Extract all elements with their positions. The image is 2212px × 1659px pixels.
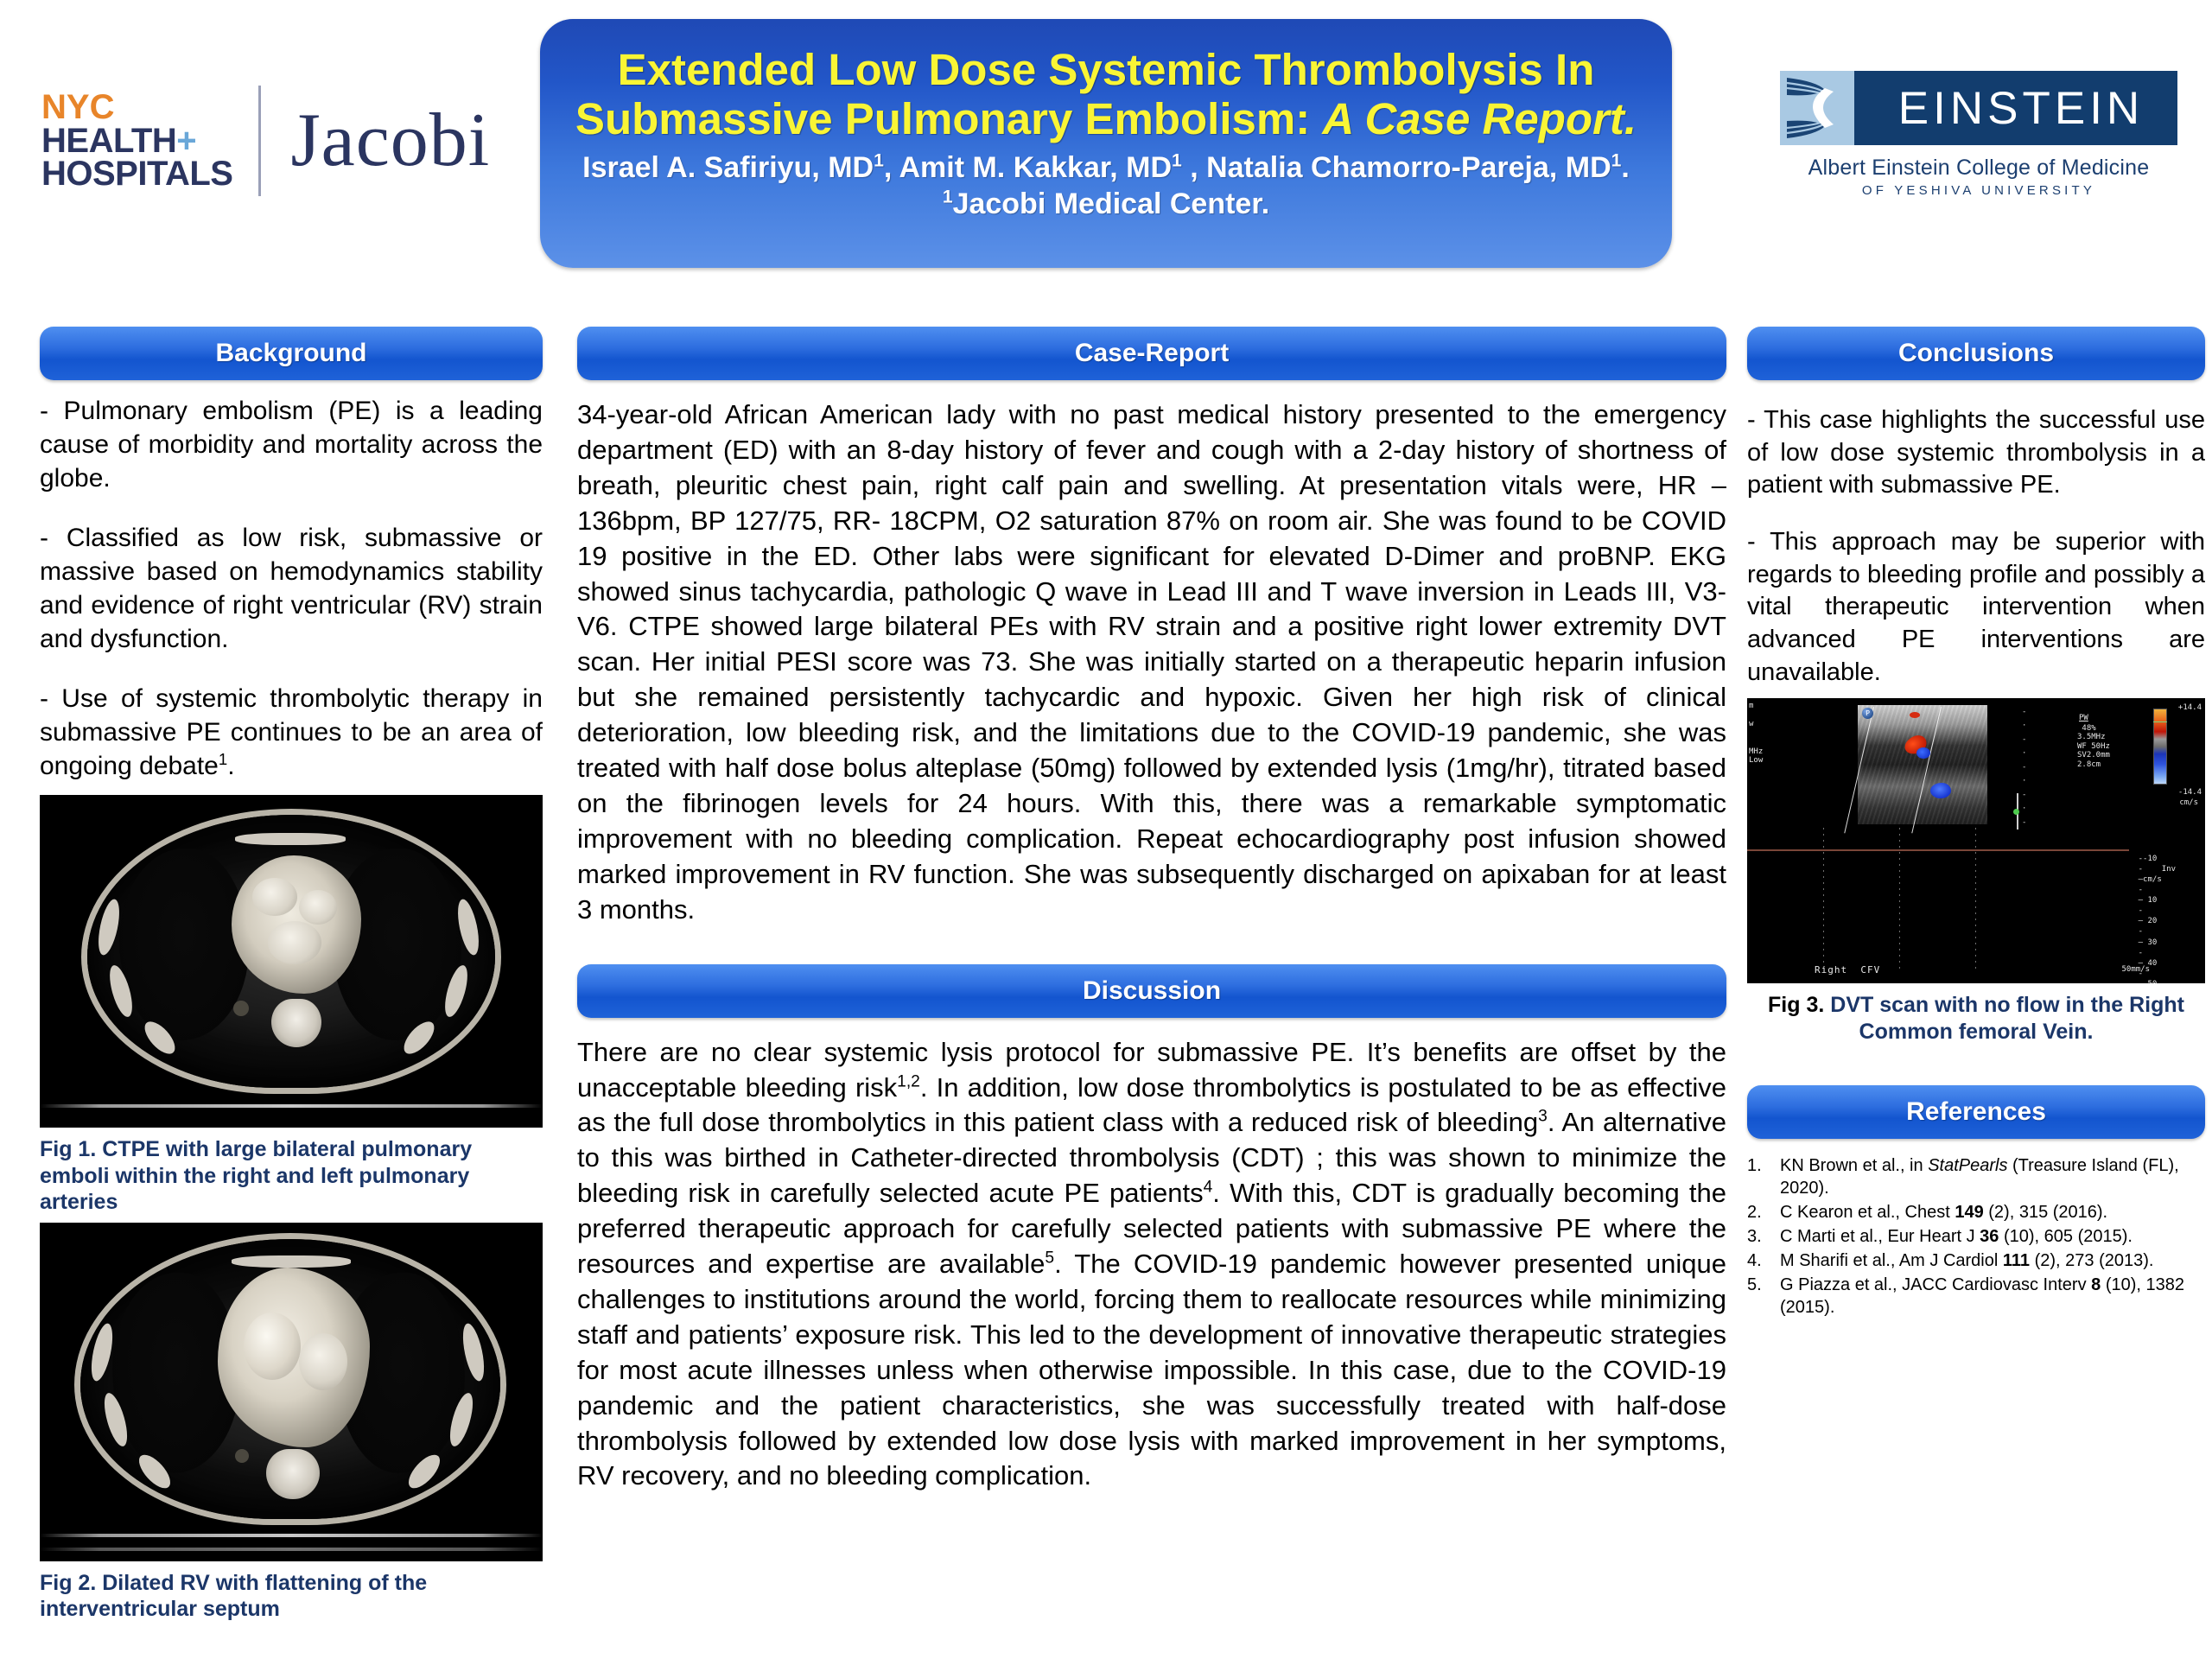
author-3-affil: 1 xyxy=(1611,151,1622,171)
doppler-colorbar-baseline xyxy=(2153,721,2167,722)
ultrasound-scale-min: -14.4 xyxy=(2178,788,2202,798)
figure-1-caption: Fig 1. CTPE with large bilateral pulmona… xyxy=(40,1136,543,1216)
affiliation-text: Jacobi Medical Center. xyxy=(953,188,1270,220)
poster-root: NYC HEALTH+ HOSPITALS Jacobi Extended Lo… xyxy=(0,0,2212,1659)
doppler-blue-small xyxy=(1916,747,1930,759)
discussion-body: There are no clear systemic lysis protoc… xyxy=(577,1035,1726,1495)
section-header-references: References xyxy=(1747,1085,2205,1139)
reference-text: M Sharifi et al., Am J Cardiol 111 (2), … xyxy=(1780,1249,2205,1272)
probe-orientation-icon: P xyxy=(1862,708,1873,719)
background-paragraph-3: - Use of systemic thrombolytic therapy i… xyxy=(40,682,543,783)
nyc-text: NYC xyxy=(41,91,232,124)
ultrasound-pw-settings: 48% 3.5MHz WF 50Hz SV2.0mm 2.8cm xyxy=(2077,724,2110,770)
background-heading-label: Background xyxy=(215,339,366,368)
author-1: Israel A. Safiriyu, MD xyxy=(582,151,874,184)
doppler-red-small xyxy=(1910,712,1920,718)
nyc-health-hospitals-jacobi-logo: NYC HEALTH+ HOSPITALS Jacobi xyxy=(41,76,543,206)
affiliation-marker: 1 xyxy=(943,187,953,207)
ultrasound-spectral-scale: --10 - Inv —cm/s - — 10 - — 20 - — 30 - … xyxy=(2139,854,2176,983)
middle-column: Case-Report 34-year-old African American… xyxy=(577,327,1726,1494)
discussion-ref-1: 1,2 xyxy=(897,1072,920,1090)
discussion-paragraph: There are no clear systemic lysis protoc… xyxy=(577,1035,1726,1495)
conclusions-body: - This case highlights the successful us… xyxy=(1747,404,2205,690)
reference-journal-italic: StatPearls xyxy=(1928,1156,2007,1175)
reference-text: C Kearon et al., Chest 149 (2), 315 (201… xyxy=(1780,1201,2205,1224)
ultrasound-caliper-marker xyxy=(2013,809,2019,815)
figure-1-ct-image xyxy=(40,795,543,1128)
jacobi-wordmark: Jacobi xyxy=(290,103,490,179)
hospitals-text: HOSPITALS xyxy=(41,157,232,190)
figure-3-label: Fig 3. xyxy=(1768,993,1824,1017)
figure-1-caption-text: CTPE with large bilateral pulmonary embo… xyxy=(40,1137,472,1214)
helix-svg xyxy=(1780,71,1854,145)
case-report-body: 34-year-old African American lady with n… xyxy=(577,397,1726,928)
einstein-college-logo: EINSTEIN Albert Einstein College of Medi… xyxy=(1771,71,2186,198)
title-line-1: Extended Low Dose Systemic Thrombolysis … xyxy=(618,45,1595,94)
case-report-paragraph: 34-year-old African American lady with n… xyxy=(577,397,1726,928)
figure-3-caption: Fig 3. DVT scan with no flow in the Righ… xyxy=(1747,992,2205,1046)
ultrasound-doppler-sector xyxy=(1858,705,1987,824)
page-title: Extended Low Dose Systemic Thrombolysis … xyxy=(575,45,1637,143)
section-header-background: Background xyxy=(40,327,543,380)
figure-2-ct-image xyxy=(40,1223,543,1561)
ultrasound-depth-ticks: -·-·-·-·- xyxy=(2022,705,2026,829)
figure-3-caption-text: DVT scan with no flow in the Right Commo… xyxy=(1824,993,2184,1044)
reference-item: 4. M Sharifi et al., Am J Cardiol 111 (2… xyxy=(1747,1249,2205,1272)
discussion-ref-4: 5 xyxy=(1045,1249,1054,1268)
doppler-blue-vein xyxy=(1930,783,1951,798)
plus-icon: + xyxy=(176,122,196,160)
author-list: Israel A. Safiriyu, MD1, Amit M. Kakkar,… xyxy=(575,150,1637,222)
doppler-colorbar xyxy=(2153,709,2167,785)
background-paragraph-3-end: . xyxy=(227,752,234,780)
figure-2-caption-text: Dilated RV with flattening of the interv… xyxy=(40,1571,427,1622)
conclusions-heading-label: Conclusions xyxy=(1898,339,2054,368)
reference-item: 2. C Kearon et al., Chest 149 (2), 315 (… xyxy=(1747,1201,2205,1224)
ultrasound-sweep-speed: 50mm/s xyxy=(2121,965,2150,975)
reference-text: C Marti et al., Eur Heart J 36 (10), 605… xyxy=(1780,1225,2205,1248)
reference-text: G Piazza et al., JACC Cardiovasc Interv … xyxy=(1780,1274,2205,1319)
discussion-seg-5: . The COVID-19 pandemic however presente… xyxy=(577,1249,1726,1491)
reference-item: 1. KN Brown et al., in StatPearls (Treas… xyxy=(1747,1154,2205,1199)
author-2: , Amit M. Kakkar, MD xyxy=(884,151,1172,184)
reference-volume: 8 xyxy=(2091,1275,2101,1294)
author-1-affil: 1 xyxy=(874,151,884,171)
case-report-heading-label: Case-Report xyxy=(1075,339,1229,368)
reference-number: 4. xyxy=(1747,1249,1780,1272)
conclusions-paragraph-2: - This approach may be superior with reg… xyxy=(1747,526,2205,689)
ultrasound-pw-title: PW xyxy=(2079,714,2088,723)
ultrasound-scale-unit: cm/s xyxy=(2179,798,2198,808)
health-text: HEALTH+ xyxy=(41,124,232,157)
reference-text: KN Brown et al., in StatPearls (Treasure… xyxy=(1780,1154,2205,1199)
background-paragraph-1: - Pulmonary embolism (PE) is a leading c… xyxy=(40,394,543,495)
references-heading-label: References xyxy=(1906,1097,2046,1127)
section-header-conclusions: Conclusions xyxy=(1747,327,2205,380)
reference-volume: 149 xyxy=(1955,1203,1983,1222)
right-column: Conclusions - This case highlights the s… xyxy=(1747,327,2205,1320)
reference-number: 1. xyxy=(1747,1154,1780,1199)
figure-1-label: Fig 1. xyxy=(40,1137,96,1161)
author-3: , Natalia Chamorro-Pareja, MD xyxy=(1182,151,1611,184)
spectral-grid xyxy=(1747,828,2129,973)
nyc-health-hospitals-wordmark: NYC HEALTH+ HOSPITALS xyxy=(41,91,232,190)
reference-number: 5. xyxy=(1747,1274,1780,1319)
section-header-discussion: Discussion xyxy=(577,964,1726,1018)
figure-2-caption: Fig 2. Dilated RV with flattening of the… xyxy=(40,1570,543,1623)
einstein-wordmark: EINSTEIN xyxy=(1888,82,2144,135)
discussion-ref-2: 3 xyxy=(1538,1108,1548,1126)
background-paragraph-3-text: - Use of systemic thrombolytic therapy i… xyxy=(40,684,543,780)
ultrasound-left-labels: m w MHz Low xyxy=(1749,702,1763,766)
figure-2-label: Fig 2. xyxy=(40,1571,96,1595)
author-end-punct: . xyxy=(1621,151,1629,184)
reference-volume: 36 xyxy=(1980,1227,1999,1246)
einstein-university-name: OF YESHIVA UNIVERSITY xyxy=(1771,183,2186,198)
figure-3-ultrasound-image: m w MHz Low P PW 48% 3.5MHz WF 50Hz SV2.… xyxy=(1747,698,2205,983)
author-2-affil: 1 xyxy=(1172,151,1182,171)
discussion-heading-label: Discussion xyxy=(1083,976,1221,1006)
references-list: 1. KN Brown et al., in StatPearls (Treas… xyxy=(1747,1154,2205,1319)
title-line-2-italic: A Case Report. xyxy=(1322,94,1637,143)
poster-title-box: Extended Low Dose Systemic Thrombolysis … xyxy=(540,19,1672,268)
ultrasound-vessel-label: Right CFV xyxy=(1815,965,1880,976)
einstein-college-name: Albert Einstein College of Medicine xyxy=(1771,156,2186,181)
background-ref-marker: 1 xyxy=(219,750,227,768)
ultrasound-scale-max: +14.4 xyxy=(2178,703,2202,713)
title-line-2: Submassive Pulmonary Embolism: xyxy=(575,94,1322,143)
background-paragraph-2: - Classified as low risk, submassive or … xyxy=(40,521,543,656)
reference-item: 3. C Marti et al., Eur Heart J 36 (10), … xyxy=(1747,1225,2205,1248)
background-body: - Pulmonary embolism (PE) is a leading c… xyxy=(40,394,543,783)
reference-number: 3. xyxy=(1747,1225,1780,1248)
einstein-helix-icon xyxy=(1780,71,1854,145)
einstein-mark: EINSTEIN xyxy=(1780,71,2177,145)
conclusions-paragraph-1: - This case highlights the successful us… xyxy=(1747,404,2205,502)
reference-item: 5. G Piazza et al., JACC Cardiovasc Inte… xyxy=(1747,1274,2205,1319)
section-header-case-report: Case-Report xyxy=(577,327,1726,380)
reference-number: 2. xyxy=(1747,1201,1780,1224)
einstein-wordmark-bar: EINSTEIN xyxy=(1854,71,2177,145)
logo-divider xyxy=(258,86,261,196)
reference-volume: 111 xyxy=(2003,1251,2030,1270)
discussion-ref-3: 4 xyxy=(1204,1179,1213,1197)
left-column: Background - Pulmonary embolism (PE) is … xyxy=(40,327,543,1623)
poster-header: NYC HEALTH+ HOSPITALS Jacobi Extended Lo… xyxy=(0,0,2212,285)
